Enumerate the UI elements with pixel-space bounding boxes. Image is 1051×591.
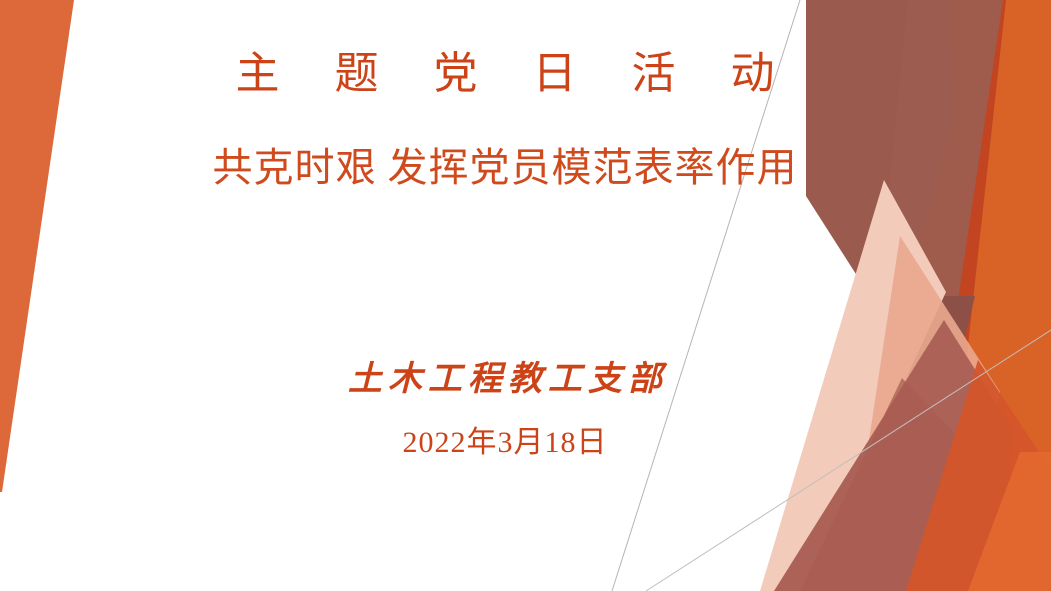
slide-content: 主 题 党 日 活 动 共克时艰 发挥党员模范表率作用 土木工程教工支部 202… bbox=[0, 0, 1051, 591]
slide-main-title: 主 题 党 日 活 动 bbox=[0, 48, 1010, 100]
slide-date: 2022年3月18日 bbox=[0, 401, 1010, 461]
presentation-slide: 主 题 党 日 活 动 共克时艰 发挥党员模范表率作用 土木工程教工支部 202… bbox=[0, 0, 1051, 591]
footer-block: 土木工程教工支部 2022年3月18日 bbox=[0, 360, 1010, 461]
title-block: 主 题 党 日 活 动 共克时艰 发挥党员模范表率作用 bbox=[0, 48, 1010, 192]
organization-name: 土木工程教工支部 bbox=[0, 360, 1010, 401]
slide-subtitle: 共克时艰 发挥党员模范表率作用 bbox=[0, 100, 1010, 192]
